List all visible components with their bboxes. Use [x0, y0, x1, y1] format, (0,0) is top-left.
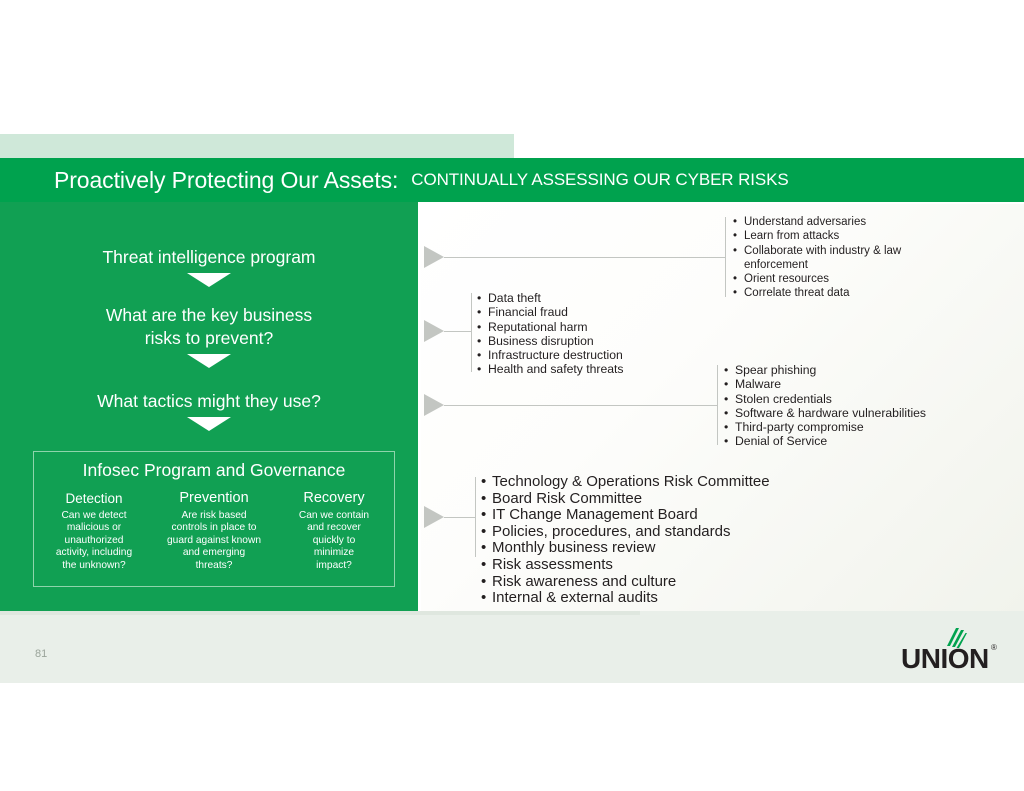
logo-wordmark: UNION — [901, 643, 989, 675]
pillar-body-line: and emerging — [183, 547, 245, 558]
flow-step-key-business-risks: What are the key business risks to preve… — [0, 304, 418, 368]
chevron-down-icon — [187, 417, 231, 431]
list-item: Monthly business review — [481, 540, 770, 557]
connector-bracket-3 — [717, 365, 718, 445]
chevron-down-icon — [187, 354, 231, 368]
pillar-body-line: impact? — [316, 560, 352, 571]
list-item-line: Data theft — [488, 291, 624, 305]
list-item-line: Technology & Operations Risk Committee — [492, 474, 770, 491]
list-item: Orient resources — [733, 272, 901, 286]
list-item: Internal & external audits — [481, 590, 770, 607]
list-item-line: Learn from attacks — [744, 229, 901, 243]
list-item-line: Internal & external audits — [492, 590, 770, 607]
connector-bracket-1 — [725, 217, 726, 297]
flow-step-tactics: What tactics might they use? — [0, 390, 418, 431]
list-item-line: enforcement — [744, 258, 901, 272]
bullet-group-key-business-risks: Data theft Financial fraud Reputational … — [477, 291, 624, 377]
list-item-line: Malware — [735, 377, 926, 391]
list-item-line: Third-party compromise — [735, 420, 926, 434]
list-item-line: Policies, procedures, and standards — [492, 524, 770, 541]
list-item: Technology & Operations Risk Committee — [481, 474, 770, 491]
accent-strip — [0, 134, 514, 158]
list-item: Reputational harm — [477, 320, 624, 334]
list-item: Health and safety threats — [477, 362, 624, 376]
list-item-line: Orient resources — [744, 272, 901, 286]
list-item: Policies, procedures, and standards — [481, 524, 770, 541]
list-item: Board Risk Committee — [481, 491, 770, 508]
left-flow-panel: Threat intelligence program What are the… — [0, 202, 418, 611]
page-subtitle: CONTINUALLY ASSESSING OUR CYBER RISKS — [411, 170, 788, 190]
list-item: IT Change Management Board — [481, 507, 770, 524]
list-item-line: Monthly business review — [492, 540, 770, 557]
pillar-title: Detection — [39, 490, 149, 507]
list-item-line: IT Change Management Board — [492, 507, 770, 524]
list-item-line: Risk assessments — [492, 557, 770, 574]
pillar-body-line: controls in place to — [172, 522, 257, 533]
pillar-body-line: guard against known — [167, 535, 261, 546]
list-item: Risk awareness and culture — [481, 574, 770, 591]
pillar-body-line: malicious or — [67, 522, 121, 533]
pillar-prevention: Prevention Are risk based controls in pl… — [154, 490, 274, 572]
list-item-line: Risk awareness and culture — [492, 574, 770, 591]
list-item-line: Correlate threat data — [744, 286, 901, 300]
list-item: Data theft — [477, 291, 624, 305]
list-item: Risk assessments — [481, 557, 770, 574]
pillar-body: Are risk based controls in place to guar… — [159, 510, 269, 572]
pillar-title: Prevention — [159, 490, 269, 507]
pillar-body-line: quickly to — [313, 535, 355, 546]
pillar-body-line: Are risk based — [181, 510, 246, 521]
flow-step-label-line1: What are the key business — [0, 304, 418, 327]
pillar-title: Recovery — [279, 490, 389, 507]
footer-band-top-edge — [0, 611, 640, 615]
connector-bracket-4 — [475, 477, 476, 557]
list-item: Third-party compromise — [724, 420, 926, 434]
connector-line-4 — [444, 517, 475, 518]
pillar-detection: Detection Can we detect malicious or una… — [34, 490, 154, 572]
connector-bracket-2 — [471, 293, 472, 372]
title-wrapper: Proactively Protecting Our Assets: CONTI… — [54, 158, 789, 202]
connector-arrow-icon-2 — [424, 320, 444, 342]
chevron-down-icon — [187, 273, 231, 287]
connector-arrow-icon-3 — [424, 394, 444, 416]
flow-step-threat-intelligence: Threat intelligence program — [0, 246, 418, 287]
list-item-line: Spear phishing — [735, 363, 926, 377]
pillar-body-line: unauthorized — [65, 535, 124, 546]
list-item: Financial fraud — [477, 305, 624, 319]
infosec-program-box: Infosec Program and Governance Detection… — [33, 451, 395, 587]
flow-step-label-line2: risks to prevent? — [0, 327, 418, 350]
list-item: Denial of Service — [724, 434, 926, 448]
list-item-line: Business disruption — [488, 334, 624, 348]
pillar-body-line: Can we contain — [299, 510, 369, 521]
connector-arrow-icon-4 — [424, 506, 444, 528]
list-item: Stolen credentials — [724, 392, 926, 406]
list-item-line: Software & hardware vulnerabilities — [735, 406, 926, 420]
list-item-line: Reputational harm — [488, 320, 624, 334]
page-number: 81 — [35, 648, 47, 660]
list-item: Understand adversaries — [733, 215, 901, 229]
list-item: Learn from attacks — [733, 229, 901, 243]
list-item-line: Board Risk Committee — [492, 491, 770, 508]
list-item-line: Understand adversaries — [744, 215, 901, 229]
page-title: Proactively Protecting Our Assets: — [54, 167, 398, 194]
pillar-body: Can we detect malicious or unauthorized … — [39, 510, 149, 572]
pillar-body-line: the unknown? — [62, 560, 125, 571]
list-item-line: Denial of Service — [735, 434, 926, 448]
bullet-group-attacker-tactics: Spear phishing Malware Stolen credential… — [724, 363, 926, 449]
pillar-recovery: Recovery Can we contain and recover quic… — [274, 490, 394, 572]
list-item-line: Financial fraud — [488, 305, 624, 319]
bullet-group-governance-mechanisms: Technology & Operations Risk Committee B… — [481, 474, 770, 607]
flow-step-label: What tactics might they use? — [0, 390, 418, 413]
pillar-body-line: Can we detect — [61, 510, 126, 521]
pillar-body: Can we contain and recover quickly to mi… — [279, 510, 389, 572]
pillar-body-line: activity, including — [56, 547, 132, 558]
list-item: Correlate threat data — [733, 286, 901, 300]
footer-band — [0, 611, 1024, 683]
title-band: Proactively Protecting Our Assets: CONTI… — [0, 158, 1024, 202]
list-item: Business disruption — [477, 334, 624, 348]
connector-line-2 — [444, 331, 471, 332]
list-item-line: Health and safety threats — [488, 362, 624, 376]
list-item-line: Stolen credentials — [735, 392, 926, 406]
list-item: Infrastructure destruction — [477, 348, 624, 362]
union-logo: UNION ® — [901, 629, 1005, 673]
list-item: Malware — [724, 377, 926, 391]
connector-line-1 — [444, 257, 725, 258]
list-item: Software & hardware vulnerabilities — [724, 406, 926, 420]
bullet-group-threat-intelligence-outputs: Understand adversaries Learn from attack… — [733, 215, 901, 301]
registered-trademark-icon: ® — [991, 643, 997, 652]
connector-line-3 — [444, 405, 717, 406]
connector-arrow-icon-1 — [424, 246, 444, 268]
infosec-pillars: Detection Can we detect malicious or una… — [34, 490, 394, 572]
pillar-body-line: threats? — [196, 560, 233, 571]
pillar-body-line: and recover — [307, 522, 361, 533]
list-item-line: Collaborate with industry & law — [744, 244, 901, 258]
slide-canvas: Proactively Protecting Our Assets: CONTI… — [0, 0, 1024, 791]
infosec-box-title: Infosec Program and Governance — [34, 460, 394, 481]
list-item: Spear phishing — [724, 363, 926, 377]
list-item-line: Infrastructure destruction — [488, 348, 624, 362]
flow-step-label: Threat intelligence program — [0, 246, 418, 269]
list-item: Collaborate with industry & law enforcem… — [733, 244, 901, 273]
pillar-body-line: minimize — [314, 547, 354, 558]
